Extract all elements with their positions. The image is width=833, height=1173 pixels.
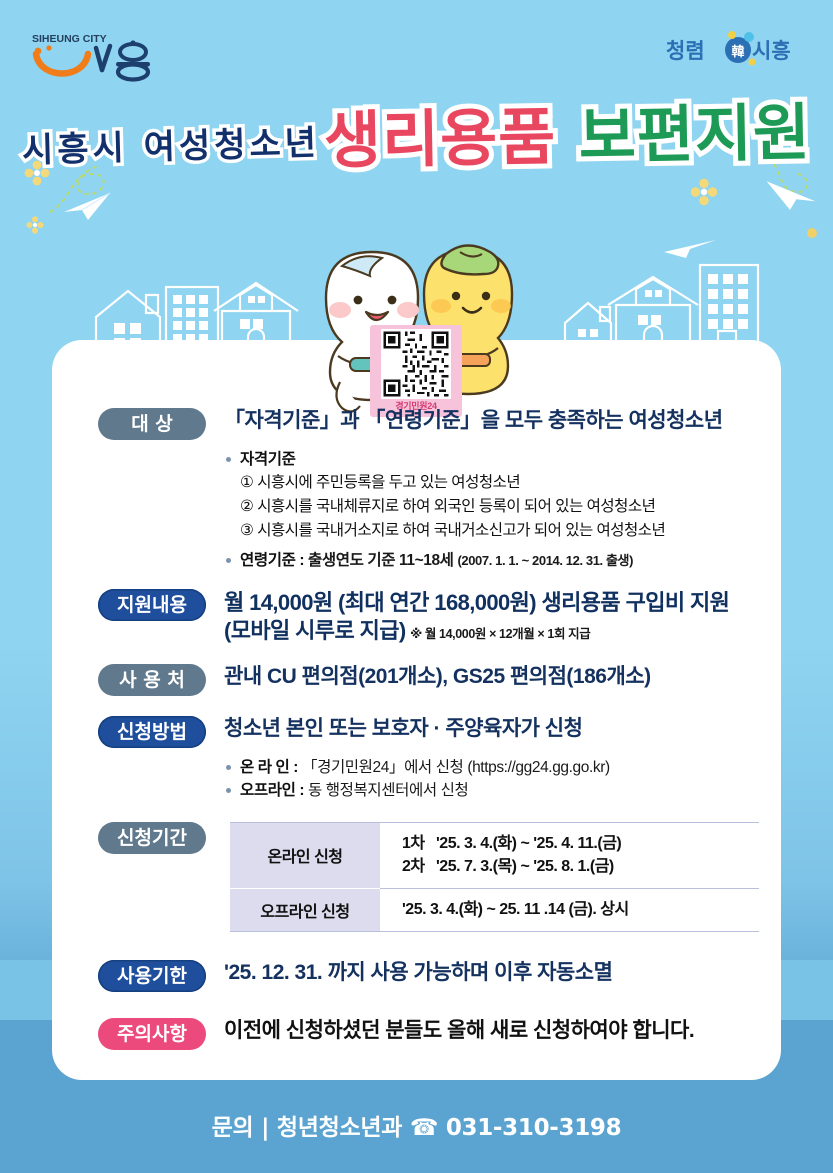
svg-text:시흥: 시흥 (752, 39, 791, 63)
qualification-item-1: ① 시흥시에 주민등록을 두고 있는 여성청소년 (224, 471, 759, 495)
period-line: 1차'25. 3. 4.(화) ~ '25. 4. 11.(금) (402, 832, 749, 855)
badge-usage-deadline: 사용기한 (98, 960, 206, 992)
period-line: 2차'25. 7. 3.(목) ~ '25. 8. 1.(금) (402, 855, 749, 878)
caution-text: 이전에 신청하셨던 분들도 올해 새로 신청하여야 합니다. (224, 1018, 759, 1044)
apply-online-item: 온 라 인 : 「경기민원24」에서 신청 (https://gg24.gg.g… (224, 756, 759, 779)
age-text: 출생연도 기준 11~18세 (308, 552, 454, 569)
paper-plane-right (762, 178, 818, 217)
qualification-item-3: ③ 시흥시를 국내거소지로 하여 국내거소신고가 되어 있는 여성청소년 (224, 519, 759, 543)
badge-usage-place: 사 용 처 (98, 664, 206, 696)
badge-caution: 주의사항 (98, 1018, 206, 1050)
support-line-2-wrap: (모바일 시루로 지급) ※ 월 14,000원 × 12개월 × 1회 지급 (224, 617, 759, 646)
period-value-1: '25. 3. 4.(화) ~ '25. 4. 11.(금) (436, 835, 621, 852)
target-details: 자격기준 ① 시흥시에 주민등록을 두고 있는 여성청소년 ② 시흥시를 국내체… (98, 448, 759, 573)
logo-caption-text: SIHEUNG CITY (32, 33, 107, 45)
apply-offline-label: 오프라인 : (240, 782, 304, 799)
cheongryeom-siheung-logo: 청렴 시흥 韓 청렴 시흥 (666, 28, 791, 72)
age-criteria-line: 연령기준 : 출생연도 기준 11~18세 (2007. 1. 1. ~ 201… (224, 549, 759, 572)
poster-title: 시흥시 여성청소년 생리용품 보편지원 (0, 100, 833, 169)
period-row-label-online: 온라인 신청 (230, 823, 380, 888)
dot-doodle-right (806, 226, 818, 244)
support-line-1: 월 14,000원 (최대 연간 168,000원) 생리용품 구입비 지원 (224, 589, 759, 618)
period-value-2: '25. 7. 3.(목) ~ '25. 8. 1.(금) (436, 858, 614, 875)
section-apply-method: 신청방법 청소년 본인 또는 보호자 · 주양육자가 신청 (98, 716, 759, 748)
period-row-value-online: 1차'25. 3. 4.(화) ~ '25. 4. 11.(금) 2차'25. … (380, 823, 759, 888)
period-no-2: 2차 (402, 855, 436, 878)
svg-text:청렴: 청렴 (666, 39, 705, 63)
paper-plane-left (62, 190, 114, 227)
section-support: 지원내용 월 14,000원 (최대 연간 168,000원) 생리용품 구입비… (98, 589, 759, 646)
usage-place-text: 관내 CU 편의점(201개소), GS25 편의점(186개소) (224, 664, 759, 690)
title-green-text: 보편지원 (578, 96, 811, 173)
apply-period-table: 온라인 신청 1차'25. 3. 4.(화) ~ '25. 4. 11.(금) … (230, 822, 759, 931)
qualification-label: 자격기준 (240, 451, 295, 468)
siheung-city-logo: SIHEUNG CITY SIHEUNG CITY 시흥 (30, 26, 160, 82)
support-line-2: (모바일 시루로 지급) (224, 618, 406, 643)
poster-main-title: 생리용품 보편지원 (324, 100, 812, 174)
age-note: (2007. 1. 1. ~ 2014. 12. 31. 출생) (457, 553, 633, 568)
poster-root: SIHEUNG CITY SIHEUNG CITY 시흥 청렴 시흥 韓 (0, 0, 833, 1173)
badge-apply-method: 신청방법 (98, 716, 206, 748)
apply-offline-text: 동 행정복지센터에서 신청 (308, 782, 468, 799)
period-no-1: 1차 (402, 832, 436, 855)
usage-deadline-text: '25. 12. 31. 까지 사용 가능하며 이후 자동소멸 (224, 960, 759, 986)
title-pink-text: 생리용품 (324, 100, 557, 177)
flower-doodle-small (26, 216, 44, 239)
apply-offline-item: 오프라인 : 동 행정복지센터에서 신청 (224, 779, 759, 802)
flower-doodle-right (690, 178, 718, 211)
age-label: 연령기준 : (240, 552, 304, 569)
section-target: 대 상 「자격기준」과 「연령기준」을 모두 충족하는 여성청소년 (98, 408, 759, 440)
apply-method-details: 온 라 인 : 「경기민원24」에서 신청 (https://gg24.gg.g… (98, 756, 759, 803)
emblem-glyph: 韓 (731, 44, 744, 60)
badge-support: 지원내용 (98, 589, 206, 621)
period-row-value-offline: '25. 3. 4.(화) ~ 25. 11 .14 (금). 상시 (380, 888, 759, 931)
content-rows: 대 상 「자격기준」과 「연령기준」을 모두 충족하는 여성청소년 자격기준 ①… (52, 340, 781, 1050)
section-usage-place: 사 용 처 관내 CU 편의점(201개소), GS25 편의점(186개소) (98, 664, 759, 696)
section-usage-deadline: 사용기한 '25. 12. 31. 까지 사용 가능하며 이후 자동소멸 (98, 960, 759, 992)
target-lead-text: 「자격기준」과 「연령기준」을 모두 충족하는 여성청소년 (224, 408, 759, 434)
apply-method-lead: 청소년 본인 또는 보호자 · 주양육자가 신청 (224, 716, 759, 742)
apply-online-text[interactable]: 「경기민원24」에서 신청 (https://gg24.gg.go.kr) (302, 759, 610, 776)
period-row-label-offline: 오프라인 신청 (230, 888, 380, 931)
badge-apply-period: 신청기간 (98, 822, 206, 854)
table-row: 오프라인 신청 '25. 3. 4.(화) ~ 25. 11 .14 (금). … (230, 888, 759, 931)
footer-contact: 문의 | 청년청소년과 ☎ 031-310-3198 (0, 1108, 833, 1142)
table-row: 온라인 신청 1차'25. 3. 4.(화) ~ '25. 4. 11.(금) … (230, 823, 759, 888)
section-apply-period: 신청기간 온라인 신청 1차'25. 3. 4.(화) ~ '25. 4. 11… (98, 822, 759, 931)
qualification-heading: 자격기준 (224, 448, 759, 471)
section-caution: 주의사항 이전에 신청하셨던 분들도 올해 새로 신청하여야 합니다. (98, 1018, 759, 1050)
qualification-item-2: ② 시흥시를 국내체류지로 하여 외국인 등록이 되어 있는 여성청소년 (224, 495, 759, 519)
badge-target: 대 상 (98, 408, 206, 440)
apply-online-label: 온 라 인 : (240, 759, 298, 776)
support-note: ※ 월 14,000원 × 12개월 × 1회 지급 (410, 627, 590, 641)
poster-subtitle-text: 시흥시 여성청소년 (21, 126, 320, 168)
